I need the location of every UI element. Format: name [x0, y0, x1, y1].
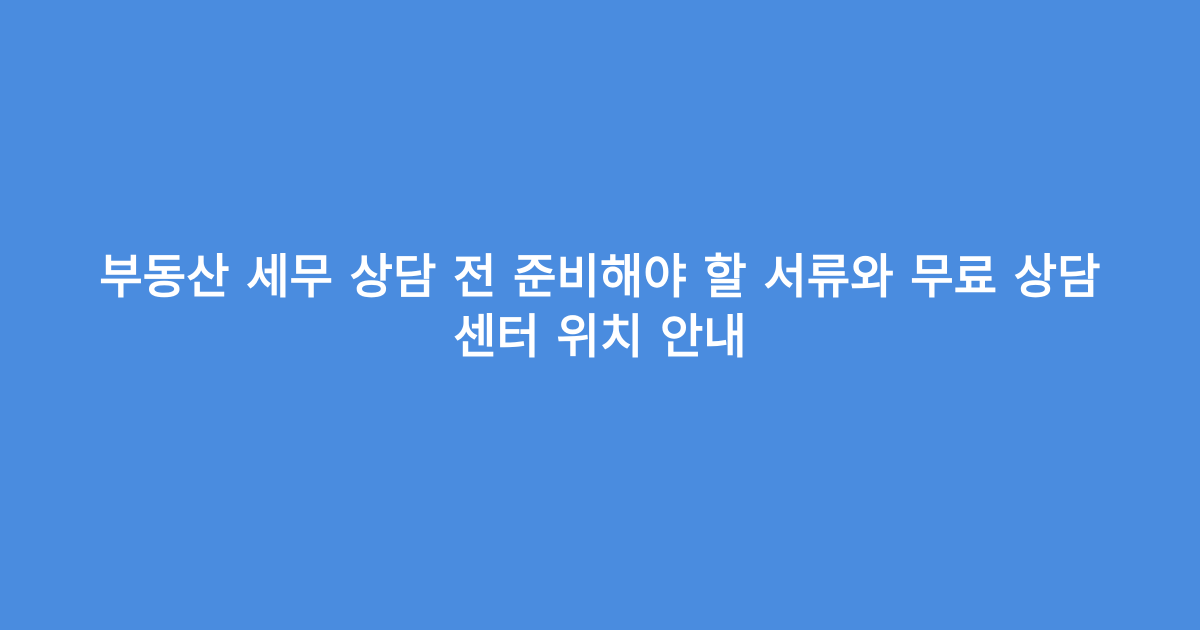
card-content: 부동산 세무 상담 전 준비해야 할 서류와 무료 상담 센터 위치 안내 [0, 248, 1200, 368]
social-share-card: 부동산 세무 상담 전 준비해야 할 서류와 무료 상담 센터 위치 안내 [0, 0, 1200, 630]
card-title: 부동산 세무 상담 전 준비해야 할 서류와 무료 상담 센터 위치 안내 [56, 248, 1144, 368]
